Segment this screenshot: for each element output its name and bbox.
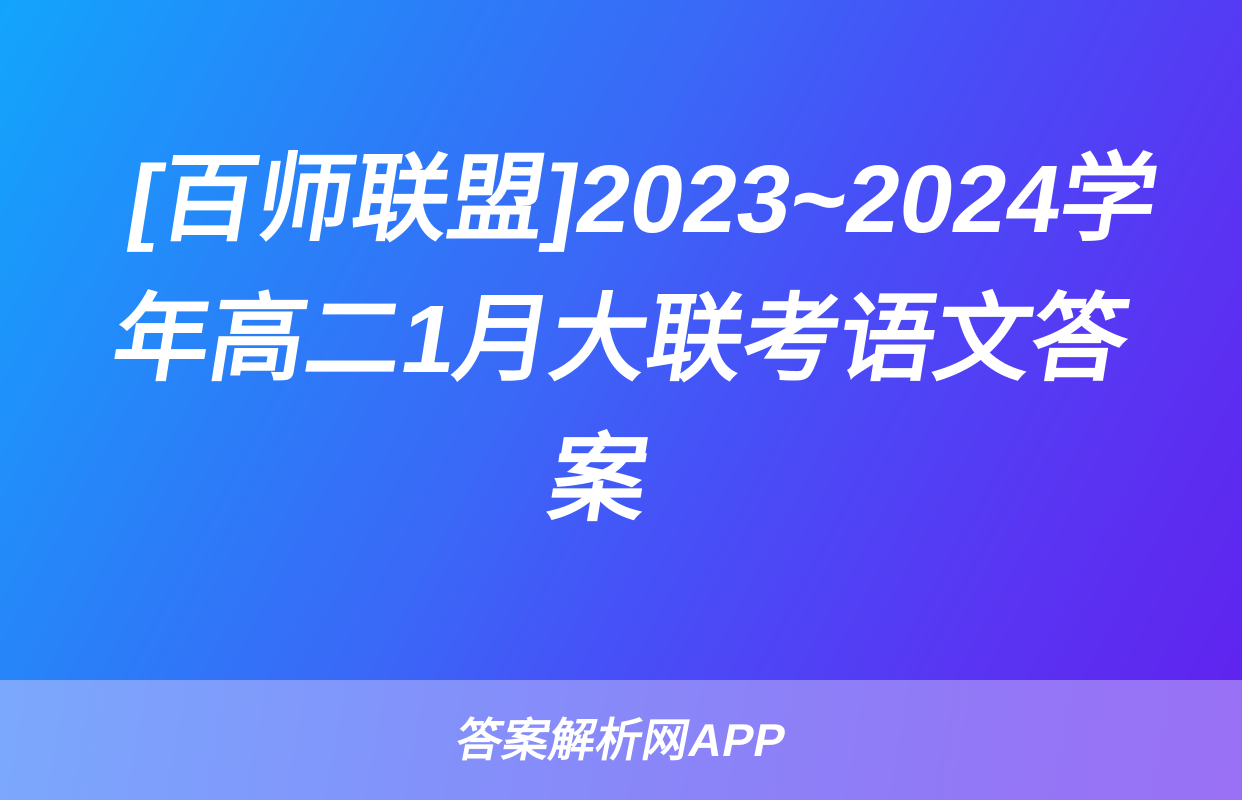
page-title: [百师联盟]2023~2024学年高二1月大联考语文答案 — [63, 130, 1180, 550]
brand-app-label: 答案解析网APP — [452, 717, 790, 763]
poster-hero-banner: [百师联盟]2023~2024学年高二1月大联考语文答案 — [0, 0, 1242, 680]
brand-footer-bar: 答案解析网APP — [0, 680, 1242, 800]
answer-poster: [百师联盟]2023~2024学年高二1月大联考语文答案 答案解析网APP — [0, 0, 1242, 800]
